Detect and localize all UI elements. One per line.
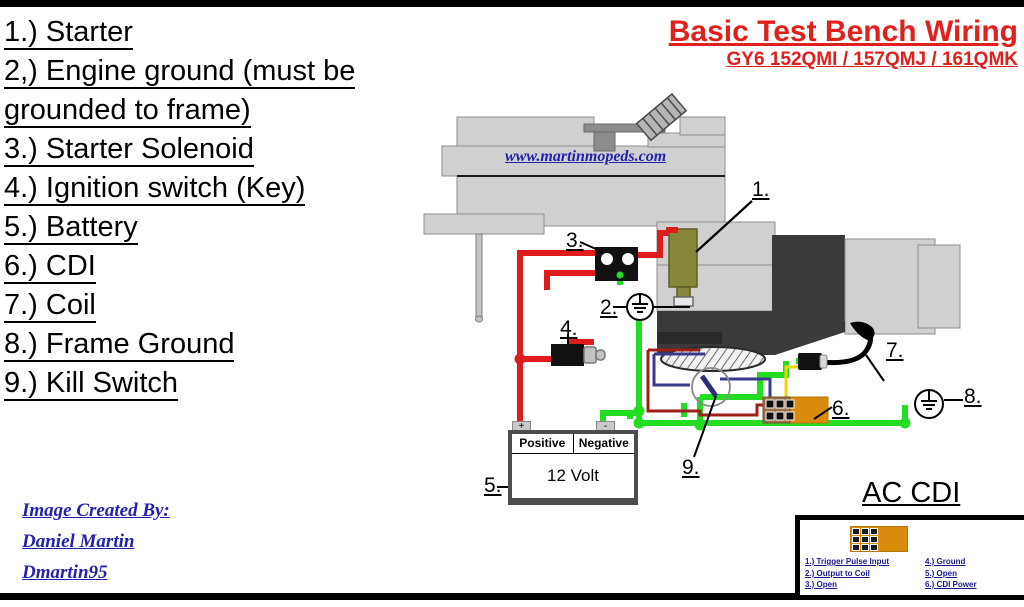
cdi-pin xyxy=(852,528,860,535)
cdi-connector-pin-grid xyxy=(852,528,878,551)
cdi-unit xyxy=(763,397,828,423)
battery-negative-label: Negative xyxy=(574,434,635,453)
accdi-legend-item: 6.) CDI Power xyxy=(925,579,977,591)
kill-switch xyxy=(692,368,730,406)
cdi-pin xyxy=(852,536,860,543)
callout-ignition-switch: 4. xyxy=(560,318,578,339)
callout-cdi: 6. xyxy=(832,398,850,419)
cdi-pin xyxy=(870,528,878,535)
frame-ground-symbol xyxy=(915,390,963,418)
wire-junction-dot xyxy=(515,354,526,365)
accdi-panel: 1.) Trigger Pulse Input 2.) Output to Co… xyxy=(795,515,1024,600)
callout-engine-ground: 2. xyxy=(600,297,618,318)
ignition-coil xyxy=(798,353,827,370)
watermark-url: www.martinmopeds.com xyxy=(505,148,666,166)
cdi-pin xyxy=(861,528,869,535)
diagram-canvas: 1.) Starter 2,) Engine ground (must be g… xyxy=(0,0,1024,600)
callout-battery: 5. xyxy=(484,475,502,496)
callout-leader-coil xyxy=(866,355,884,381)
battery-12v: Positive Negative 12 Volt xyxy=(508,430,638,505)
cdi-connector-icon xyxy=(850,526,908,552)
accdi-legend-item: 5.) Open xyxy=(925,568,977,580)
cdi-pin xyxy=(852,544,860,551)
callout-coil: 7. xyxy=(886,340,904,361)
accdi-legend-right-column: 4.) Ground 5.) Open 6.) CDI Power xyxy=(925,556,977,591)
callout-kill-switch: 9. xyxy=(682,457,700,478)
cdi-pin xyxy=(870,544,878,551)
battery-positive-label: Positive xyxy=(512,434,574,453)
accdi-legend-left-column: 1.) Trigger Pulse Input 2.) Output to Co… xyxy=(805,556,925,591)
accdi-pinout-legend: 1.) Trigger Pulse Input 2.) Output to Co… xyxy=(805,556,1023,591)
wire-junction-dot xyxy=(634,418,645,429)
wire-junction-dot xyxy=(900,418,911,429)
accdi-legend-item: 2.) Output to Coil xyxy=(805,568,925,580)
callout-starter: 1. xyxy=(752,179,770,200)
cdi-pin xyxy=(861,536,869,543)
accdi-legend-item: 1.) Trigger Pulse Input xyxy=(805,556,925,568)
cdi-pin xyxy=(870,536,878,543)
accdi-heading: AC CDI xyxy=(862,477,960,510)
callout-frame-ground: 8. xyxy=(964,386,982,407)
battery-voltage-label: 12 Volt xyxy=(512,454,634,498)
battery-terminal-header: Positive Negative xyxy=(512,434,634,454)
cdi-pin xyxy=(861,544,869,551)
accdi-legend-item: 4.) Ground xyxy=(925,556,977,568)
callout-solenoid: 3. xyxy=(566,230,584,251)
accdi-legend-item: 3.) Open xyxy=(805,579,925,591)
